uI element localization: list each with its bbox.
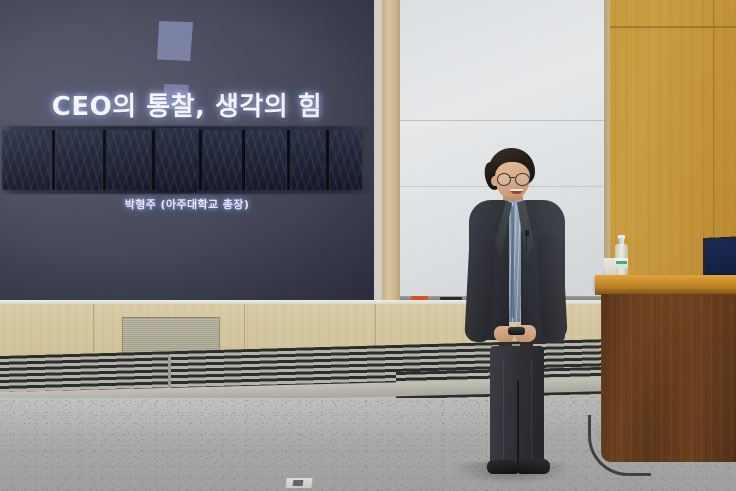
whiteboard-seam xyxy=(398,120,610,121)
trouser-leg-split xyxy=(517,380,519,468)
wood-wall-horizontal-seam xyxy=(610,26,736,28)
glasses-left-lens xyxy=(497,173,511,186)
dress-shoe-right xyxy=(517,459,550,474)
floor-outlet-plate xyxy=(285,478,312,488)
bottle-label xyxy=(615,258,628,268)
trouser-crease-left xyxy=(503,358,504,466)
wall-panel-seam xyxy=(244,304,245,352)
trouser-crease-right xyxy=(531,358,532,466)
podium-body xyxy=(601,294,736,462)
projection-screen-frame: CEO의 통찰, 생각의 힘 박형주 (아주대학교 총장) xyxy=(0,0,382,308)
presenter-remote xyxy=(508,327,525,335)
screen-vignette xyxy=(0,0,374,300)
microphone-wire xyxy=(526,236,527,252)
projection-screen: CEO의 통찰, 생각의 힘 박형주 (아주대학교 총장) xyxy=(0,0,374,300)
jacket-sleeve-right xyxy=(536,233,568,340)
dress-shoe-left xyxy=(487,460,519,474)
glasses-icon xyxy=(497,173,530,184)
wall-pillar xyxy=(382,0,400,308)
glasses-right-lens xyxy=(515,173,530,186)
presenter xyxy=(463,148,573,478)
wall-panel-seam xyxy=(93,304,94,352)
lecture-hall-photo: CEO의 통찰, 생각의 힘 박형주 (아주대학교 총장) xyxy=(0,0,736,491)
shirt-placket xyxy=(511,206,514,318)
glasses-bridge xyxy=(509,177,515,178)
